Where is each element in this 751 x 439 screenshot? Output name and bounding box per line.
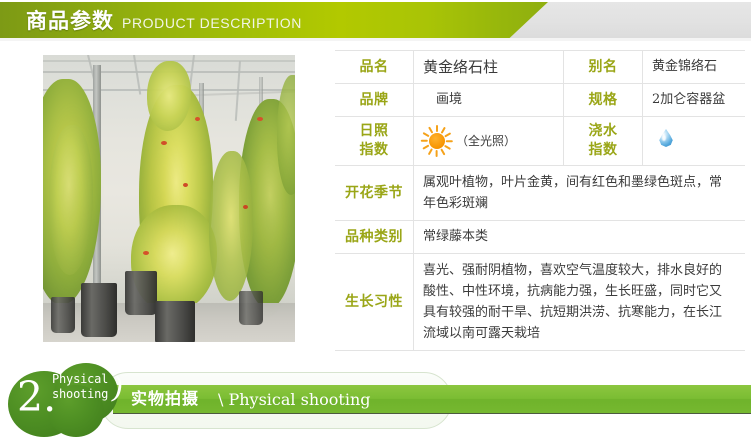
spec-value-spec: 2加仑容器盆 [643, 84, 746, 117]
spec-label-spec: 规格 [564, 84, 643, 117]
footer-step-badge: 2. Physical shooting ) [8, 363, 130, 437]
spec-label-sun-index: 日照 指数 [335, 117, 414, 166]
spec-value-water-index [643, 117, 746, 166]
water-drop-icon [658, 127, 675, 150]
footer-green-bar [113, 385, 751, 414]
spec-value-growth-habit: 喜光、强耐阴植物，喜欢空气温度较大，排水良好的酸性、中性环境，抗病能力强，生长旺… [414, 254, 746, 351]
sun-index-text: （全光照） [456, 131, 516, 151]
footer-title-english: \ Physical shooting [218, 389, 371, 411]
water-drop-icon-body [658, 129, 674, 147]
spec-label-water-index: 浇水 指数 [564, 117, 643, 166]
spec-label-alias: 别名 [564, 51, 643, 84]
spec-label-growth-habit: 生长习性 [335, 254, 414, 351]
sun-icon [420, 124, 454, 158]
product-photo [43, 55, 295, 342]
water-drop-icon-shine [662, 135, 666, 141]
spec-value-variety-type: 常绿藤本类 [414, 221, 746, 254]
spec-value-sun-index: （全光照） [414, 117, 564, 166]
water-index-line-1: 浇水 [566, 122, 640, 141]
spec-value-brand: 画境 [414, 84, 564, 117]
badge-label-line-1: Physical [52, 372, 108, 387]
sun-index-line-2: 指数 [337, 141, 411, 160]
page-title-english: PRODUCT DESCRIPTION [122, 13, 302, 33]
table-row: 开花季节 属观叶植物，叶片金黄，间有红色和墨绿色斑点，常年色彩斑斓 [335, 166, 745, 221]
product-spec-table: 品名 黄金络石柱 别名 黄金锦络石 品牌 画境 规格 2加仑容器盆 日照 指数 [335, 50, 745, 351]
photo-color-grade [43, 55, 295, 342]
table-row: 品种类别 常绿藤本类 [335, 221, 745, 254]
spec-value-product-name: 黄金络石柱 [414, 51, 564, 84]
sun-index-line-1: 日照 [337, 122, 411, 141]
header-divider [0, 38, 751, 41]
table-row: 品牌 画境 规格 2加仑容器盆 [335, 84, 745, 117]
page-title-chinese: 商品参数 [26, 8, 114, 35]
spec-label-brand: 品牌 [335, 84, 414, 117]
spec-label-bloom-season: 开花季节 [335, 166, 414, 221]
badge-step-label: Physical shooting [52, 372, 108, 402]
table-row: 生长习性 喜光、强耐阴植物，喜欢空气温度较大，排水良好的酸性、中性环境，抗病能力… [335, 254, 745, 351]
spec-value-alias: 黄金锦络石 [643, 51, 746, 84]
section-header-banner: 商品参数 PRODUCT DESCRIPTION [0, 2, 751, 38]
table-row: 品名 黄金络石柱 别名 黄金锦络石 [335, 51, 745, 84]
spec-label-product-name: 品名 [335, 51, 414, 84]
water-index-line-2: 指数 [566, 141, 640, 160]
table-row: 日照 指数 （全光照） [335, 117, 745, 166]
badge-step-number: 2. [17, 377, 56, 418]
footer-title-chinese: 实物拍摄 [131, 388, 199, 410]
spec-label-variety-type: 品种类别 [335, 221, 414, 254]
section-footer-banner: 2. Physical shooting ) 实物拍摄 \ Physical s… [0, 362, 751, 439]
spec-value-bloom-season: 属观叶植物，叶片金黄，间有红色和墨绿色斑点，常年色彩斑斓 [414, 166, 746, 221]
badge-label-line-2: shooting [52, 387, 108, 402]
sun-icon-core [429, 133, 445, 149]
